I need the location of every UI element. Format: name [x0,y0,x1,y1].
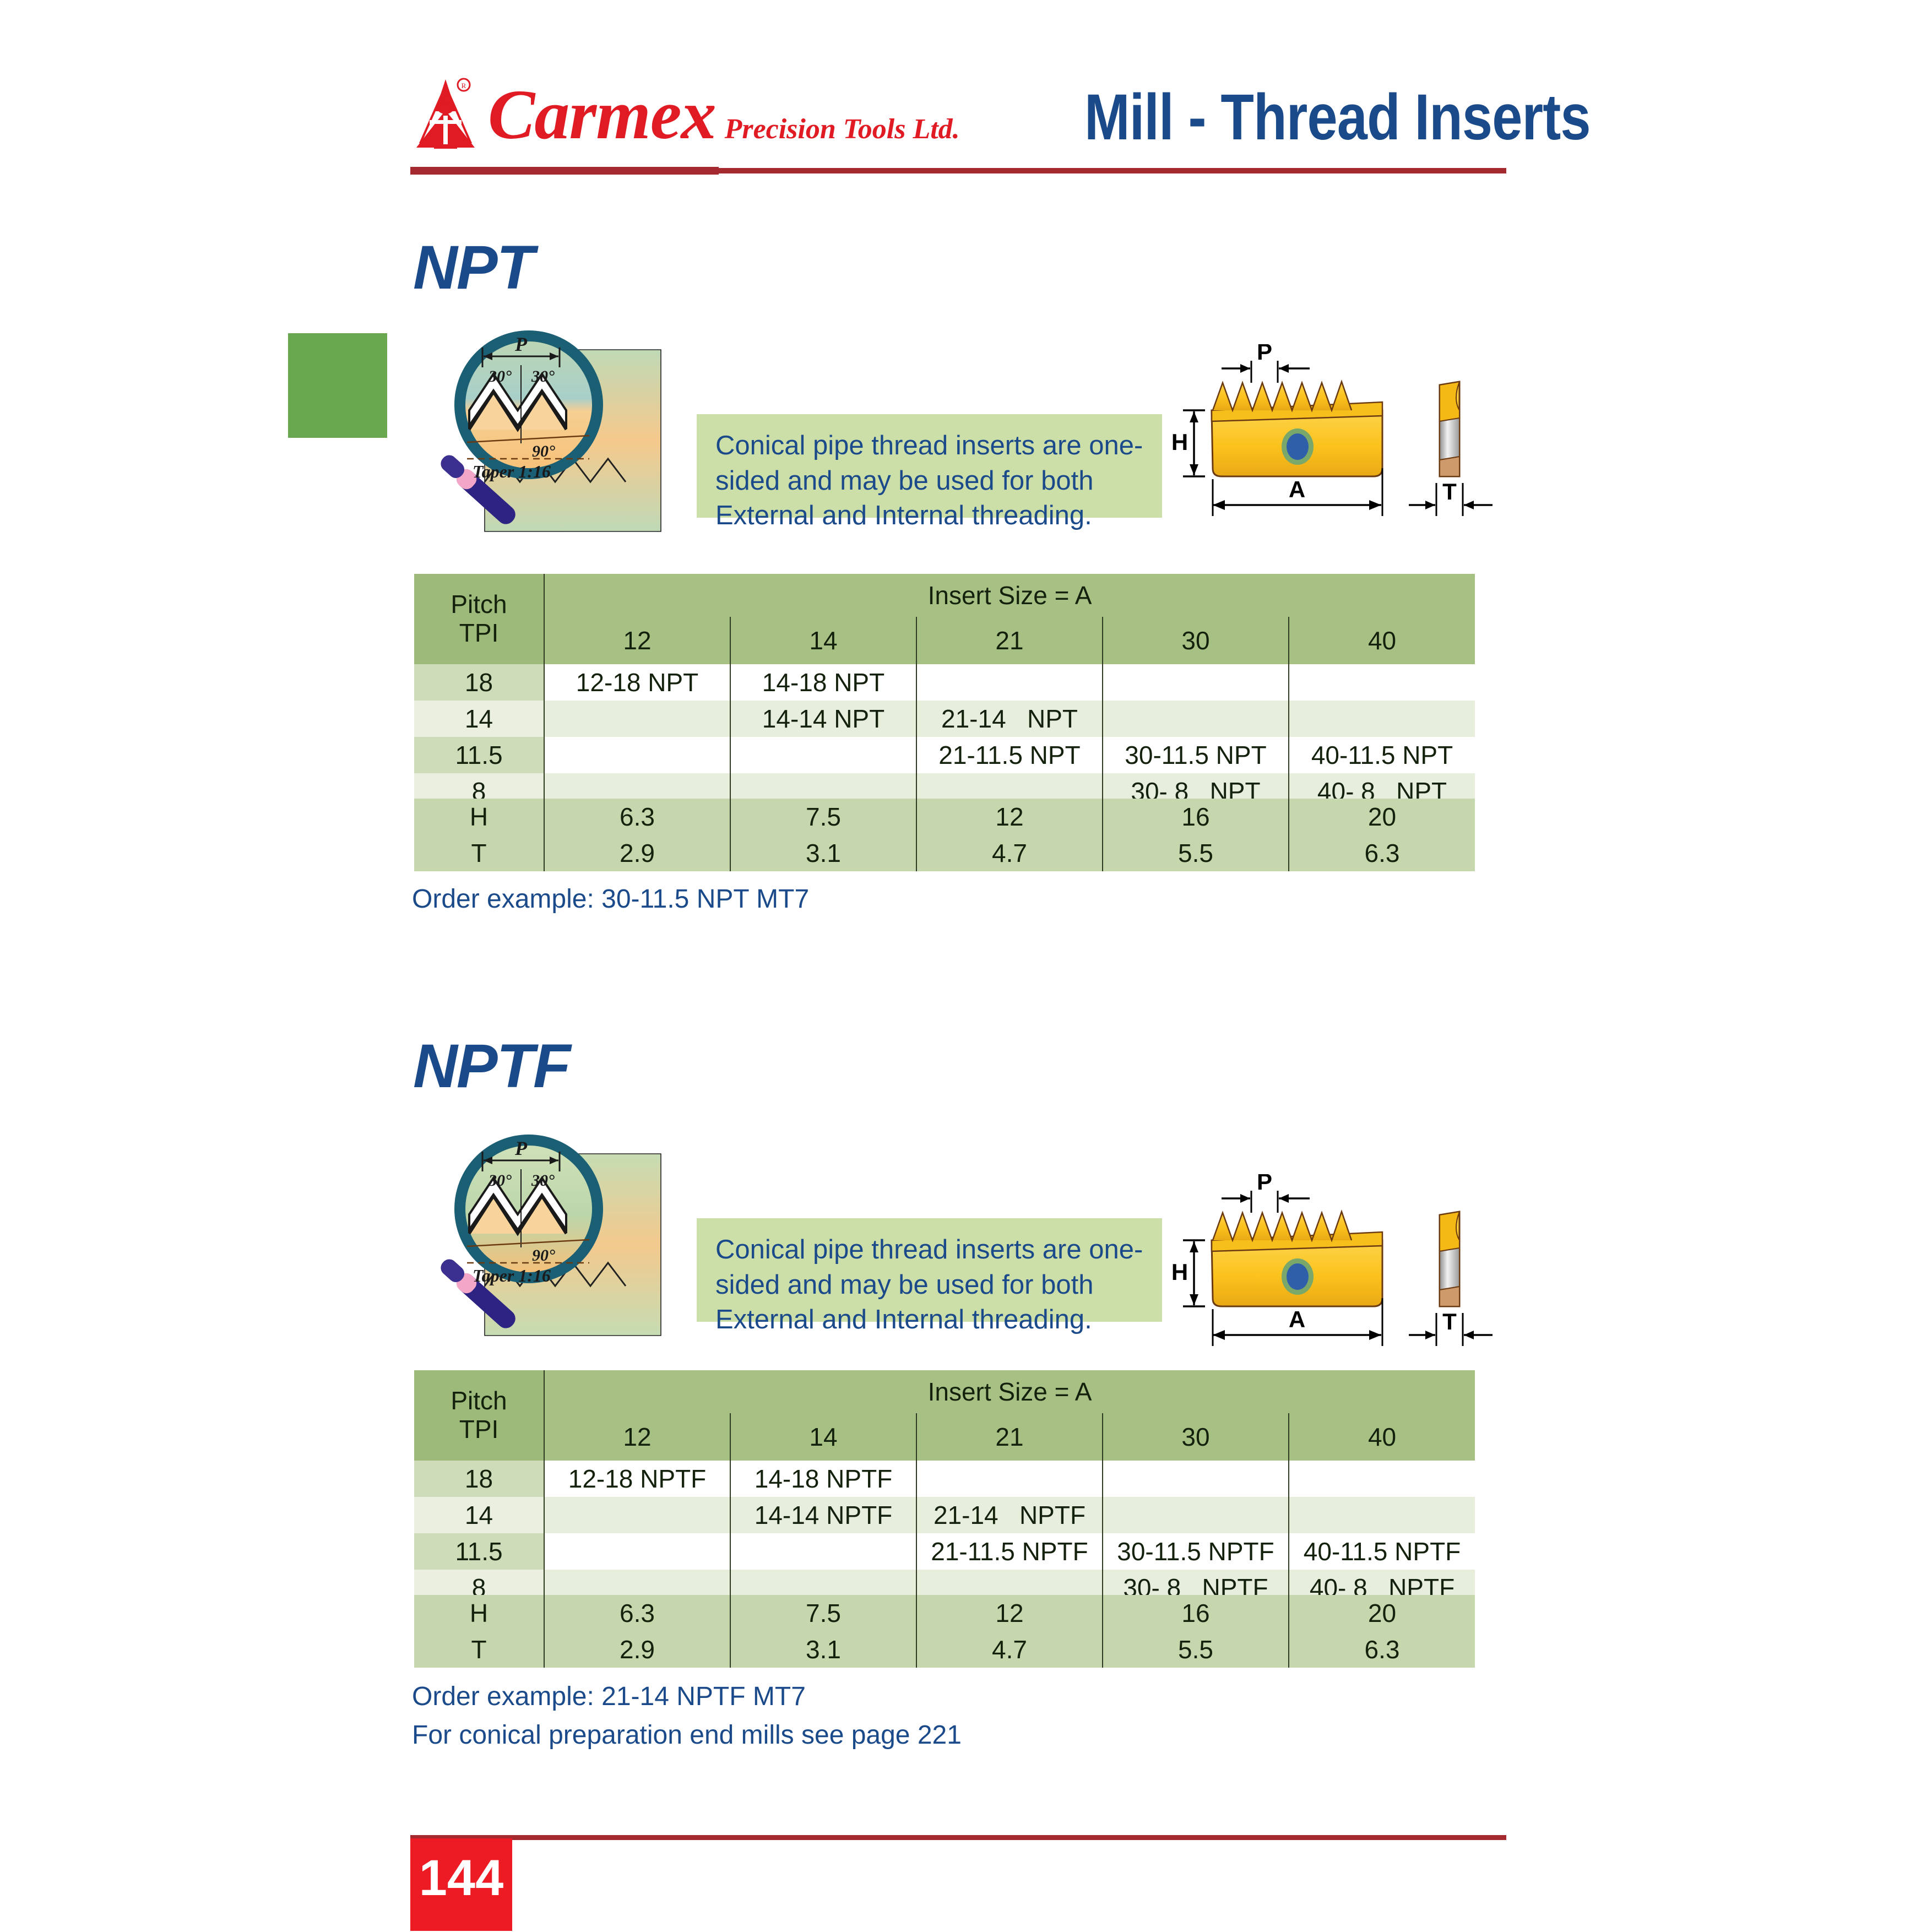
table-cell: 21-11.5 NPT [916,737,1103,773]
table-cell [1103,1497,1289,1533]
table-cell: 12 [916,1595,1103,1631]
table-cell: 7.5 [730,1595,916,1631]
npt-size-40: 40 [1289,617,1475,664]
table-cell [916,1461,1103,1497]
label-angle-right: 30° [531,1171,555,1190]
label-t: T [1442,479,1457,504]
header-rule-accent [410,167,719,175]
callout-npt: Conical pipe thread inserts are one-side… [697,414,1162,518]
section-title-npt: NPT [413,237,533,299]
npt-dim-label-T: T [414,835,544,871]
page-title: Mill - Thread Inserts [1084,80,1591,155]
label-angle-left: 30° [488,367,512,386]
table-cell: 12-18 NPTF [544,1461,730,1497]
table-cell: 14-14 NPTF [730,1497,916,1533]
npt-pitch-14: 14 [414,701,544,737]
npt-pitch-11.5: 11.5 [414,737,544,773]
npt-order-note: Order example: 30-11.5 NPT MT7 [412,880,809,919]
npt-size-row: 1214213040 [414,617,1475,664]
table-cell [1289,664,1475,701]
table-cell: 20 [1289,1595,1475,1631]
table-cell [1289,701,1475,737]
table-cell: 6.3 [544,799,730,835]
nptf-pitch-14: 14 [414,1497,544,1533]
table-cell: 3.1 [730,1631,916,1668]
table-cell: 12 [916,799,1103,835]
table-row: 1812-18 NPTF14-18 NPTF [414,1461,1475,1497]
label-included-angle: 90° [532,1246,555,1265]
label-t: T [1442,1309,1457,1334]
label-h: H [1171,1259,1188,1285]
table-cell: 16 [1103,799,1289,835]
table-cell: 2.9 [544,1631,730,1668]
npt-size-12: 12 [544,617,730,664]
table-row: H6.37.5121620 [414,799,1475,835]
nptf-size-40: 40 [1289,1413,1475,1461]
callout-nptf: Conical pipe thread inserts are one-side… [697,1218,1162,1322]
nptf-dim-label-T: T [414,1631,544,1668]
footer-rule [410,1835,1506,1840]
label-angle-left: 30° [488,1171,512,1190]
nptf-span-header: Insert Size = A [544,1370,1475,1413]
table-cell: 6.3 [544,1595,730,1631]
npt-insert-size-table: Pitch TPIInsert Size = A12142130401812-1… [414,574,1475,810]
table-row: 1812-18 NPT14-18 NPT [414,664,1475,701]
section-title-nptf: NPTF [413,1035,569,1097]
table-row: 11.521-11.5 NPTF30-11.5 NPTF40-11.5 NPTF [414,1533,1475,1570]
svg-text:R: R [462,82,466,90]
table-cell [544,737,730,773]
nptf-size-14: 14 [730,1413,916,1461]
label-taper: Taper 1:16 [473,462,551,481]
label-a: A [1289,1306,1305,1332]
page-number: 144 [410,1849,512,1907]
nptf-pitch-11.5: 11.5 [414,1533,544,1570]
section-tab-npt [288,333,387,438]
carmex-pyramid-icon: R [413,77,478,151]
label-h: H [1171,429,1188,455]
table-cell: 16 [1103,1595,1289,1631]
label-p: P [1257,344,1272,365]
nptf-dimensions-table: H6.37.5121620T2.93.14.75.56.3 [414,1595,1475,1668]
table-row: H6.37.5121620 [414,1595,1475,1631]
callout-text: Conical pipe thread inserts are one-side… [715,428,1143,534]
callout-text: Conical pipe thread inserts are one-side… [715,1233,1143,1338]
table-cell [730,737,916,773]
table-cell [916,664,1103,701]
label-a: A [1289,476,1305,502]
table-row: 1414-14 NPTF21-14 NPTF [414,1497,1475,1533]
nptf-row-header-label: Pitch TPI [414,1370,544,1461]
table-cell [1103,664,1289,701]
label-taper: Taper 1:16 [473,1266,551,1285]
nptf-size-row: 1214213040 [414,1413,1475,1461]
table-row: 11.521-11.5 NPT30-11.5 NPT40-11.5 NPT [414,737,1475,773]
label-pitch-p: P [514,333,528,355]
npt-dimensions-table: H6.37.5121620T2.93.14.75.56.3 [414,799,1475,871]
npt-row-header-label: Pitch TPI [414,574,544,664]
table-cell: 6.3 [1289,835,1475,871]
nptf-size-12: 12 [544,1413,730,1461]
table-cell: 6.3 [1289,1631,1475,1668]
label-angle-right: 30° [531,367,555,386]
carmex-logo: R Carmex Precision Tools Ltd. [413,77,960,151]
label-pitch-p: P [514,1137,528,1159]
table-cell: 14-14 NPT [730,701,916,737]
table-cell [1103,701,1289,737]
brand-name: Carmex [488,79,716,150]
table-cell: 30-11.5 NPTF [1103,1533,1289,1570]
nptf-size-21: 21 [916,1413,1103,1461]
npt-dim-label-H: H [414,799,544,835]
npt-size-21: 21 [916,617,1103,664]
table-cell: 4.7 [916,1631,1103,1668]
nptf-size-30: 30 [1103,1413,1289,1461]
table-cell: 2.9 [544,835,730,871]
table-cell: 30-11.5 NPT [1103,737,1289,773]
npt-header-row: Pitch TPIInsert Size = A [414,574,1475,617]
nptf-dim-label-H: H [414,1595,544,1631]
table-row: T2.93.14.75.56.3 [414,835,1475,871]
thread-profile-illustration-npt: P 30° 30° 90° Taper 1:16 [402,317,710,537]
insert-dimension-diagram-nptf: H A P T [1151,1174,1548,1356]
nptf-insert-size-table: Pitch TPIInsert Size = A12142130401812-1… [414,1370,1475,1606]
table-cell: 14-18 NPTF [730,1461,916,1497]
table-cell: 5.5 [1103,1631,1289,1668]
table-row: 1414-14 NPT21-14 NPT [414,701,1475,737]
nptf-header-row: Pitch TPIInsert Size = A [414,1370,1475,1413]
table-cell: 21-14 NPTF [916,1497,1103,1533]
table-cell [730,1533,916,1570]
table-cell [1289,1461,1475,1497]
label-p: P [1257,1174,1272,1195]
table-cell: 14-18 NPT [730,664,916,701]
table-cell: 3.1 [730,835,916,871]
table-cell [544,1497,730,1533]
insert-dimension-diagram-npt: H A P T [1151,344,1548,526]
nptf-pitch-18: 18 [414,1461,544,1497]
table-row: T2.93.14.75.56.3 [414,1631,1475,1668]
table-cell: 20 [1289,799,1475,835]
nptf-order-note: Order example: 21-14 NPTF MT7 For conica… [412,1678,962,1754]
table-cell: 21-14 NPT [916,701,1103,737]
table-cell: 7.5 [730,799,916,835]
table-cell: 5.5 [1103,835,1289,871]
page-header: R Carmex Precision Tools Ltd. Mill - Thr… [0,0,1932,182]
thread-profile-illustration-nptf: P 30° 30° 90° Taper 1:16 [402,1121,710,1341]
table-cell: 4.7 [916,835,1103,871]
brand-subtitle: Precision Tools Ltd. [725,115,960,144]
catalog-page: R Carmex Precision Tools Ltd. Mill - Thr… [0,0,1932,1932]
table-cell [544,701,730,737]
table-cell: 12-18 NPT [544,664,730,701]
npt-span-header: Insert Size = A [544,574,1475,617]
table-cell [1103,1461,1289,1497]
npt-pitch-18: 18 [414,664,544,701]
table-cell [544,1533,730,1570]
table-cell: 21-11.5 NPTF [916,1533,1103,1570]
label-included-angle: 90° [532,442,555,460]
npt-size-14: 14 [730,617,916,664]
table-cell: 40-11.5 NPTF [1289,1533,1475,1570]
table-cell [1289,1497,1475,1533]
table-cell: 40-11.5 NPT [1289,737,1475,773]
npt-size-30: 30 [1103,617,1289,664]
